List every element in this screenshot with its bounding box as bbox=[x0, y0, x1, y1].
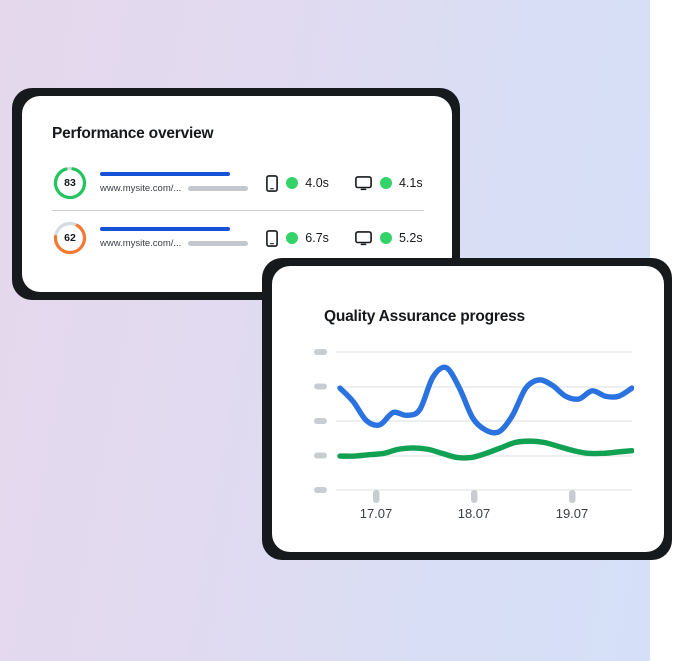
score-value: 83 bbox=[52, 165, 88, 201]
desktop-metric: 4.1s bbox=[355, 176, 423, 191]
mobile-metric: 4.0s bbox=[266, 175, 329, 192]
series-line-green bbox=[340, 441, 632, 458]
x-axis-tick-mark bbox=[471, 490, 478, 503]
status-dot-mobile bbox=[286, 177, 298, 189]
y-axis-tick-placeholder bbox=[314, 418, 327, 424]
site-url-label: www.mysite.com/... bbox=[100, 183, 181, 194]
desktop-time-value: 5.2s bbox=[399, 231, 423, 245]
y-axis-tick-placeholder bbox=[314, 487, 327, 493]
progress-bar-filled bbox=[100, 227, 230, 231]
mobile-phone-icon bbox=[266, 175, 278, 192]
performance-row[interactable]: 62 www.mysite.com/... 6.7s bbox=[52, 211, 424, 265]
score-ring-gauge: 83 bbox=[52, 165, 88, 201]
y-axis-tick-placeholder bbox=[314, 384, 327, 390]
chart-canvas: 17.0718.0719.07 bbox=[314, 342, 634, 522]
url-progress-block: www.mysite.com/... bbox=[100, 172, 248, 194]
status-dot-mobile bbox=[286, 232, 298, 244]
score-value: 62 bbox=[52, 220, 88, 256]
page-title: Performance overview bbox=[52, 125, 213, 143]
progress-bar-filled bbox=[100, 172, 230, 176]
quality-assurance-card: Quality Assurance progress 17.0718.0719.… bbox=[272, 266, 664, 552]
score-ring-gauge: 62 bbox=[52, 220, 88, 256]
desktop-monitor-icon bbox=[355, 231, 372, 246]
site-url-label: www.mysite.com/... bbox=[100, 238, 181, 249]
x-axis-tick-label: 17.07 bbox=[360, 506, 393, 521]
x-axis-tick-label: 19.07 bbox=[556, 506, 589, 521]
status-dot-desktop bbox=[380, 177, 392, 189]
x-axis-tick-labels: 17.0718.0719.07 bbox=[360, 506, 589, 521]
x-axis-tick-mark bbox=[569, 490, 576, 503]
series-line-blue bbox=[340, 367, 632, 433]
mobile-phone-icon bbox=[266, 230, 278, 247]
x-axis-tick-mark bbox=[373, 490, 380, 503]
chart-gridlines bbox=[336, 352, 632, 490]
status-dot-desktop bbox=[380, 232, 392, 244]
performance-rows-list: 83 www.mysite.com/... 4.0s bbox=[52, 156, 424, 265]
desktop-time-value: 4.1s bbox=[399, 176, 423, 190]
mobile-metric: 6.7s bbox=[266, 230, 329, 247]
y-axis-tick-placeholders bbox=[314, 349, 327, 493]
qa-title: Quality Assurance progress bbox=[324, 308, 525, 326]
mobile-time-value: 6.7s bbox=[305, 231, 329, 245]
x-axis-tick-label: 18.07 bbox=[458, 506, 491, 521]
desktop-metric: 5.2s bbox=[355, 231, 423, 246]
progress-bar-placeholder bbox=[188, 241, 248, 246]
desktop-monitor-icon bbox=[355, 176, 372, 191]
y-axis-tick-placeholder bbox=[314, 349, 327, 355]
progress-bar-placeholder bbox=[188, 186, 248, 191]
performance-row[interactable]: 83 www.mysite.com/... 4.0s bbox=[52, 156, 424, 210]
y-axis-tick-placeholder bbox=[314, 453, 327, 459]
qa-line-chart: 17.0718.0719.07 bbox=[314, 342, 634, 522]
mobile-time-value: 4.0s bbox=[305, 176, 329, 190]
url-progress-block: www.mysite.com/... bbox=[100, 227, 248, 249]
x-axis-tick-marks bbox=[373, 490, 576, 503]
